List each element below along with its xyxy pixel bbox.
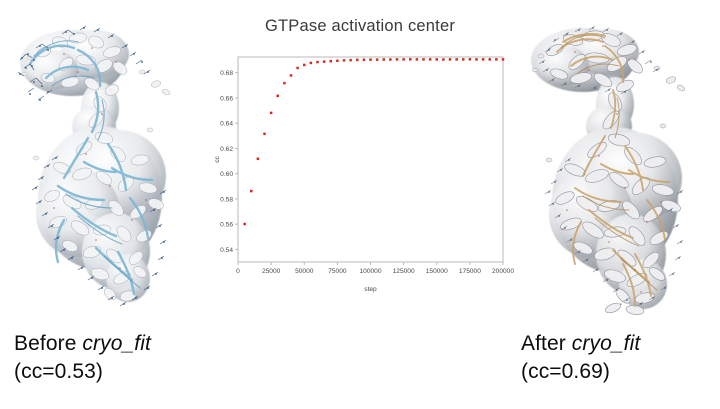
data-point <box>316 61 319 64</box>
x-tick-label: 175000 <box>459 268 481 275</box>
data-point <box>257 158 260 161</box>
data-point <box>303 64 306 67</box>
caption-after-italic: cryo_fit <box>572 332 641 355</box>
data-point <box>455 58 458 61</box>
cryo-em-density-map-after <box>505 8 720 326</box>
data-point <box>243 223 246 226</box>
data-point <box>462 58 465 61</box>
data-point <box>436 58 439 61</box>
cc-vs-step-scatter-plot: 0.540.560.580.600.620.640.660.68 0250005… <box>205 8 515 303</box>
caption-before-prefix: Before <box>14 332 82 355</box>
data-point <box>290 74 293 77</box>
caption-before-italic: cryo_fit <box>82 332 151 355</box>
data-point <box>296 67 299 70</box>
data-point <box>376 58 379 61</box>
data-point <box>482 58 485 61</box>
data-point <box>343 59 346 62</box>
y-tick-label: 0.56 <box>220 222 233 229</box>
data-point <box>422 58 425 61</box>
y-tick-label: 0.62 <box>220 146 233 153</box>
data-point <box>416 58 419 61</box>
data-point <box>383 58 386 61</box>
x-axis-ticks: 0250005000075000100000125000150000175000… <box>236 262 514 275</box>
data-point <box>250 190 253 193</box>
data-point <box>449 58 452 61</box>
caption-before: Before cryo_fit (cc=0.53) <box>14 330 151 385</box>
data-point <box>263 133 266 136</box>
data-point <box>429 58 432 61</box>
data-point <box>330 60 333 63</box>
y-tick-label: 0.54 <box>220 247 233 254</box>
x-tick-label: 100000 <box>359 268 381 275</box>
data-point <box>356 59 359 62</box>
x-tick-label: 25000 <box>262 268 281 275</box>
caption-after: After cryo_fit (cc=0.69) <box>521 330 640 385</box>
data-point <box>442 58 445 61</box>
data-point <box>495 58 498 61</box>
x-tick-label: 150000 <box>426 268 448 275</box>
panel-before-cryo-fit: Before cryo_fit (cc=0.53) <box>0 0 210 409</box>
data-point <box>369 58 372 61</box>
data-point <box>310 62 313 65</box>
panel-chart: GTPase activation center 0.540.560.580.6… <box>205 8 515 303</box>
data-point <box>323 60 326 63</box>
data-point <box>389 58 392 61</box>
caption-after-prefix: After <box>521 332 572 355</box>
data-point <box>409 58 412 61</box>
data-point <box>277 95 280 98</box>
data-point <box>363 59 366 62</box>
y-tick-label: 0.64 <box>220 121 233 128</box>
x-tick-label: 75000 <box>328 268 347 275</box>
x-tick-label: 50000 <box>295 268 314 275</box>
data-point <box>349 59 352 62</box>
data-point <box>489 58 492 61</box>
y-axis-label: cc <box>214 156 221 163</box>
caption-before-cc: (cc=0.53) <box>14 358 151 386</box>
x-axis-label: step <box>364 286 377 293</box>
data-point <box>336 60 339 63</box>
y-tick-label: 0.68 <box>220 70 233 77</box>
data-points <box>243 58 504 225</box>
y-tick-label: 0.66 <box>220 95 233 102</box>
data-point <box>502 58 505 61</box>
data-point <box>396 58 399 61</box>
data-point <box>402 58 405 61</box>
x-tick-label: 125000 <box>393 268 415 275</box>
panel-after-cryo-fit: After cryo_fit (cc=0.69) <box>505 0 720 409</box>
data-point <box>283 82 286 85</box>
x-tick-label: 0 <box>236 268 240 275</box>
caption-after-cc: (cc=0.69) <box>521 358 640 386</box>
data-point <box>475 58 478 61</box>
y-axis-ticks: 0.540.560.580.600.620.640.660.68 <box>220 70 238 254</box>
cryo-em-density-map-before <box>0 8 210 326</box>
data-point <box>469 58 472 61</box>
y-tick-label: 0.60 <box>220 171 233 178</box>
plot-frame <box>238 57 503 262</box>
y-tick-label: 0.58 <box>220 196 233 203</box>
structure-image-after <box>505 8 720 326</box>
structure-image-before <box>0 8 210 326</box>
data-point <box>270 112 273 115</box>
